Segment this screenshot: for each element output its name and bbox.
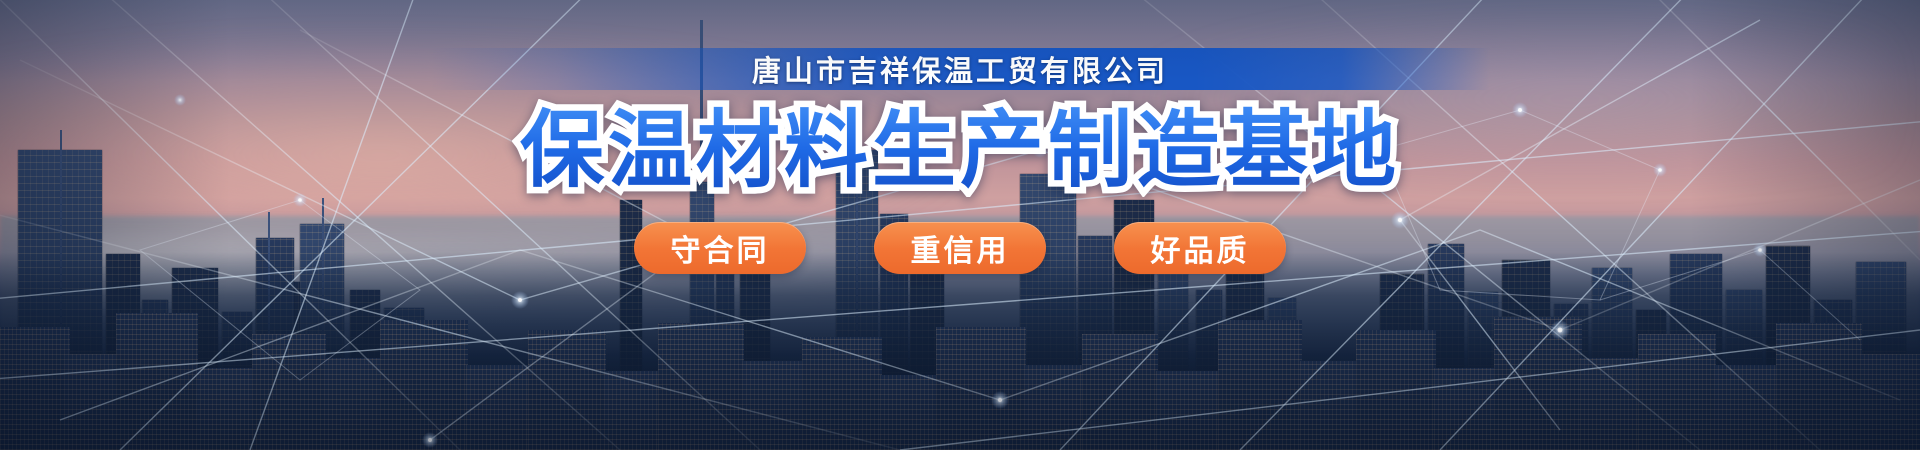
badge-hao-pin-zhi[interactable]: 好品质 [1114,222,1286,274]
headline-fill-layer: 保温材料生产制造基地 [520,103,1400,197]
headline-container: 保温材料生产制造基地 保温材料生产制造基地 [0,100,1920,200]
badge-zhong-xin-yong[interactable]: 重信用 [874,222,1046,274]
headline: 保温材料生产制造基地 保温材料生产制造基地 [520,108,1400,192]
badge-row: 守合同 重信用 好品质 [0,218,1920,278]
company-name: 唐山市吉祥保温工贸有限公司 [0,46,1920,92]
promo-banner: 唐山市吉祥保温工贸有限公司 保温材料生产制造基地 保温材料生产制造基地 守合同 … [0,0,1920,450]
foreground-buildings [0,279,1920,450]
badge-shou-he-tong[interactable]: 守合同 [634,222,806,274]
